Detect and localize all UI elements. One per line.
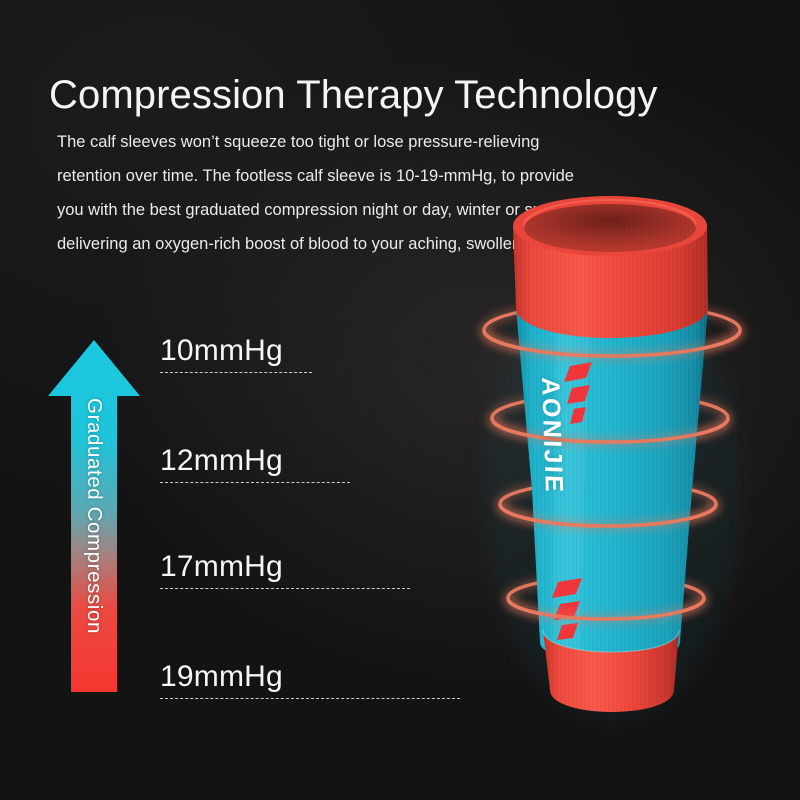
cuff-opening-texture bbox=[524, 204, 696, 252]
pressure-level-10: 10mmHg bbox=[160, 334, 312, 373]
pressure-level-label: 17mmHg bbox=[160, 550, 410, 584]
pressure-level-12: 12mmHg bbox=[160, 444, 350, 483]
brand-name-aonijie: AONIJIE bbox=[535, 377, 568, 495]
graduated-compression-arrow: Graduated Compression bbox=[44, 336, 144, 696]
pressure-level-rule bbox=[160, 372, 312, 373]
sleeve-top-cuff bbox=[513, 196, 708, 338]
pressure-level-label: 10mmHg bbox=[160, 334, 312, 368]
product-image-calf-sleeve: AONIJIE bbox=[440, 190, 780, 730]
pressure-level-label: 19mmHg bbox=[160, 660, 460, 694]
pressure-level-19: 19mmHg bbox=[160, 660, 460, 699]
product-infographic: Compression Therapy Technology The calf … bbox=[0, 0, 800, 800]
pressure-level-rule bbox=[160, 482, 350, 483]
pressure-level-label: 12mmHg bbox=[160, 444, 350, 478]
arrow-label: Graduated Compression bbox=[82, 398, 106, 634]
page-title: Compression Therapy Technology bbox=[49, 73, 658, 118]
pressure-level-17: 17mmHg bbox=[160, 550, 410, 589]
pressure-level-rule bbox=[160, 698, 460, 699]
pressure-level-rule bbox=[160, 588, 410, 589]
